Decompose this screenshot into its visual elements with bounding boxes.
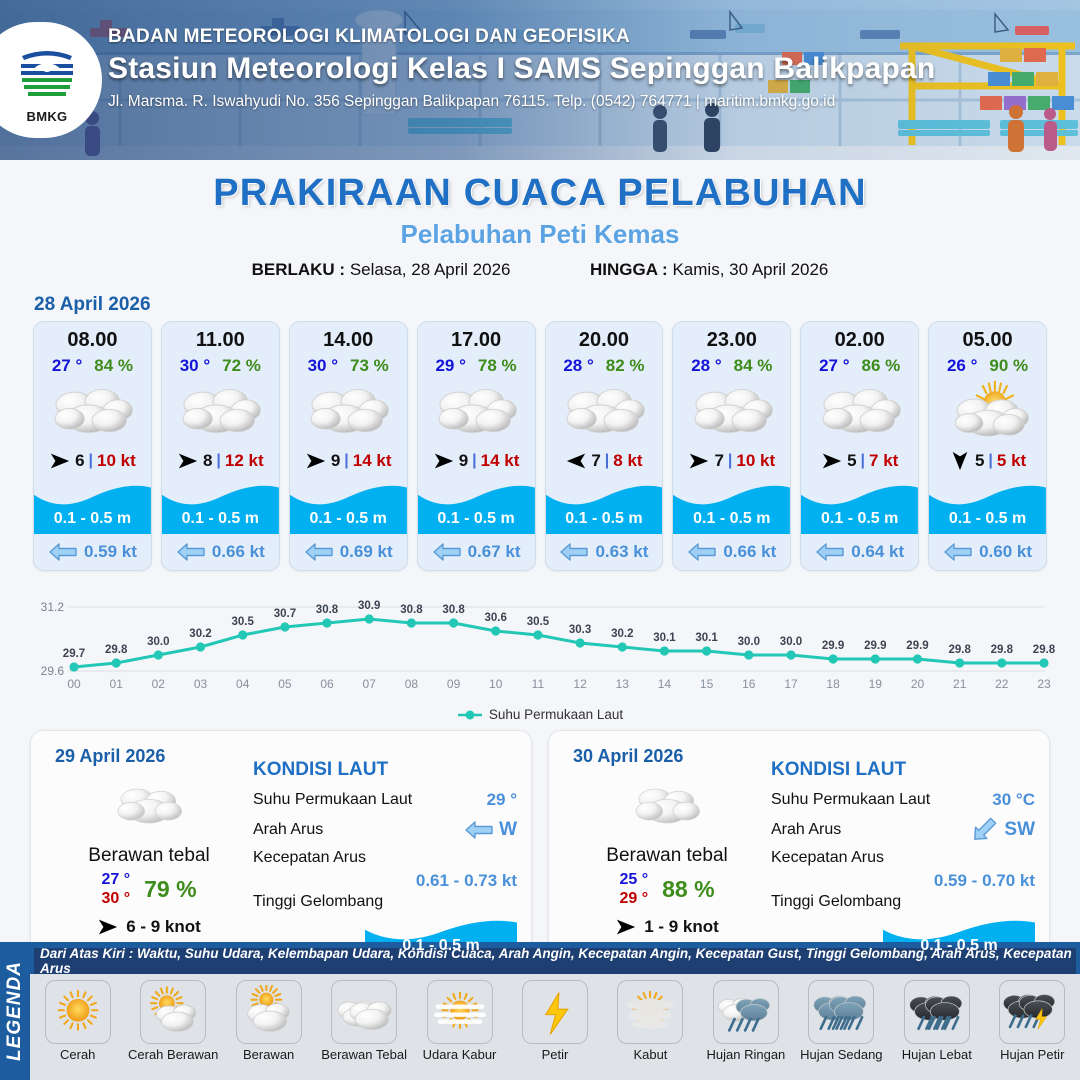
svg-text:29.7: 29.7 (63, 648, 85, 660)
legend-icon-box (427, 980, 493, 1044)
legend-item-label: Berawan (223, 1048, 315, 1062)
legend-item-label: Hujan Ringan (700, 1048, 792, 1062)
svg-text:07: 07 (363, 677, 377, 691)
legend-item: Cerah Berawan (127, 980, 219, 1062)
card-wind-row: 7 | 8 kt (546, 444, 663, 478)
legend-item-label: Udara Kabur (414, 1048, 506, 1062)
card-wind-direction (49, 450, 71, 472)
daily-humidity: 88 % (662, 876, 714, 903)
legend-item: Berawan (223, 980, 315, 1062)
svg-text:20: 20 (911, 677, 925, 691)
card-wind-direction (565, 450, 587, 472)
daily-temp-min: 25 ° (619, 871, 648, 889)
sst-chart-svg: 31.229.629.70029.80130.00230.20330.50430… (22, 585, 1058, 697)
hourly-card: 02.00 27 ° 86 % 5 | 7 kt 0 (800, 321, 919, 571)
card-wave-height: 0.1 - 0.5 m (34, 510, 151, 528)
card-wave-block: 0.1 - 0.5 m (162, 478, 279, 534)
legend-item: Cerah (32, 980, 124, 1062)
legend-icon-box (331, 980, 397, 1044)
card-temperature: 26 ° (947, 356, 977, 376)
card-gust: 12 kt (225, 451, 264, 471)
clouds-icon (335, 985, 393, 1039)
current-direction-value: W (499, 819, 517, 841)
hourly-card: 17.00 29 ° 78 % 9 | 14 kt (417, 321, 536, 571)
daily-panel: 29 April 2026 Berawan tebal 27 ° 30 ° 79… (30, 730, 532, 972)
card-humidity: 84 % (734, 356, 773, 376)
current-speed-label: Kecepatan Arus (771, 849, 884, 867)
legend-icon-box (236, 980, 302, 1044)
current-direction-arrow-icon (432, 541, 462, 563)
page-header: BMKG BADAN METEOROLOGI KLIMATOLOGI DAN G… (0, 0, 1080, 160)
legend-item: Udara Kabur (414, 980, 506, 1062)
daily-sea-block: KONDISI LAUT Suhu Permukaan Laut 30 °C A… (771, 759, 1035, 961)
svg-text:13: 13 (616, 677, 630, 691)
svg-text:30.9: 30.9 (358, 600, 380, 612)
station-address: Jl. Marsma. R. Iswahyudi No. 356 Sepingg… (108, 93, 935, 111)
card-humidity: 84 % (94, 356, 133, 376)
wind-direction-arrow-icon (565, 450, 587, 472)
sst-chart: 31.229.629.70029.80130.00230.20330.50430… (0, 585, 1080, 705)
card-wind-direction (688, 450, 710, 472)
daily-wind-row: 1 - 9 knot (567, 916, 767, 938)
station-name: Stasiun Meteorologi Kelas I SAMS Sepingg… (108, 52, 935, 86)
sst-label: Suhu Permukaan Laut (771, 791, 930, 809)
daily-condition: Berawan tebal (567, 845, 767, 867)
card-time: 11.00 (162, 322, 279, 352)
page-subtitle: Pelabuhan Peti Kemas (0, 219, 1080, 250)
cloud-icon (177, 382, 263, 440)
current-direction-arrow-icon (48, 541, 78, 563)
sea-conditions-title: KONDISI LAUT (771, 759, 1035, 781)
svg-text:30.6: 30.6 (485, 612, 507, 624)
card-temperature: 27 ° (52, 356, 82, 376)
card-current-speed: 0.66 kt (723, 542, 776, 562)
svg-text:30.1: 30.1 (653, 632, 676, 644)
card-wind-speed: 7 (591, 451, 600, 471)
current-direction-arrow-icon (966, 812, 1003, 849)
legend-item: Hujan Petir (986, 980, 1078, 1062)
daily-wave-box: 0.1 - 0.5 m (365, 913, 517, 961)
sun-icon (49, 985, 107, 1039)
svg-text:29.8: 29.8 (991, 644, 1014, 656)
wind-direction-arrow-icon (97, 916, 119, 938)
hingga-value: Kamis, 30 April 2026 (672, 260, 828, 279)
card-current-speed: 0.64 kt (851, 542, 904, 562)
daily-wind-speed: 1 - 9 knot (644, 917, 719, 937)
card-wind-direction (949, 450, 971, 472)
header-text-block: BADAN METEOROLOGI KLIMATOLOGI DAN GEOFIS… (108, 26, 935, 111)
card-separator: | (472, 452, 476, 470)
legend-item-label: Cerah Berawan (127, 1048, 219, 1062)
card-weather-icon (418, 378, 535, 444)
card-current-speed: 0.59 kt (84, 542, 137, 562)
svg-text:22: 22 (995, 677, 1009, 691)
current-direction-value-group: W (464, 819, 517, 841)
wind-direction-arrow-icon (821, 450, 843, 472)
legend-side-title-text: LEGENDA (4, 961, 26, 1061)
card-separator: | (344, 452, 348, 470)
card-wind-row: 7 | 10 kt (673, 444, 790, 478)
agency-name: BADAN METEOROLOGI KLIMATOLOGI DAN GEOFIS… (108, 26, 935, 48)
card-wave-block: 0.1 - 0.5 m (673, 478, 790, 534)
legend-icon-box (617, 980, 683, 1044)
current-direction-arrow-icon (815, 541, 845, 563)
lightning-icon (526, 985, 584, 1039)
hourly-date-label: 28 April 2026 (34, 294, 1080, 316)
card-wave-height: 0.1 - 0.5 m (801, 510, 918, 528)
svg-text:17: 17 (784, 677, 798, 691)
card-wind-direction (177, 450, 199, 472)
card-humidity: 86 % (862, 356, 901, 376)
card-wave-block: 0.1 - 0.5 m (34, 478, 151, 534)
svg-text:15: 15 (700, 677, 714, 691)
svg-text:30.2: 30.2 (189, 628, 211, 640)
legend-item: Petir (509, 980, 601, 1062)
daily-date: 29 April 2026 (55, 746, 165, 767)
light-rain-icon (717, 985, 775, 1039)
sun-cloud-icon (144, 985, 202, 1039)
svg-text:29.8: 29.8 (1033, 644, 1056, 656)
card-gust: 7 kt (869, 451, 898, 471)
card-time: 17.00 (418, 322, 535, 352)
daily-wind-row: 6 - 9 knot (49, 916, 249, 938)
current-speed-value: 0.59 - 0.70 kt (771, 871, 1035, 891)
card-separator: | (216, 452, 220, 470)
hingga-label: HINGGA : (590, 260, 668, 279)
legend-item-label: Kabut (604, 1048, 696, 1062)
card-weather-icon (34, 378, 151, 444)
overcast-icon (630, 782, 704, 830)
card-separator: | (988, 452, 992, 470)
legend-icon-box (140, 980, 206, 1044)
card-current-speed: 0.60 kt (979, 542, 1032, 562)
chart-legend-label: Suhu Permukaan Laut (489, 707, 623, 722)
card-wind-row: 5 | 7 kt (801, 444, 918, 478)
card-wave-height: 0.1 - 0.5 m (418, 510, 535, 528)
card-weather-icon (673, 378, 790, 444)
legend-item-label: Hujan Sedang (795, 1048, 887, 1062)
sea-conditions-title: KONDISI LAUT (253, 759, 517, 781)
card-wave-height: 0.1 - 0.5 m (673, 510, 790, 528)
card-humidity: 78 % (478, 356, 517, 376)
svg-text:19: 19 (869, 677, 883, 691)
svg-text:30.8: 30.8 (400, 604, 423, 616)
svg-text:00: 00 (67, 677, 81, 691)
card-current-row: 0.69 kt (290, 534, 407, 570)
heavy-rain-icon (908, 985, 966, 1039)
bmkg-logo-icon (12, 38, 82, 108)
card-weather-icon (801, 378, 918, 444)
legend-icon-box (904, 980, 970, 1044)
current-direction-arrow-icon (943, 541, 973, 563)
card-wind-row: 6 | 10 kt (34, 444, 151, 478)
daily-weather-icon (49, 775, 249, 837)
card-separator: | (89, 452, 93, 470)
svg-text:05: 05 (278, 677, 292, 691)
card-current-speed: 0.63 kt (595, 542, 648, 562)
card-humidity: 72 % (222, 356, 261, 376)
legend-icon-box (45, 980, 111, 1044)
wind-direction-arrow-icon (49, 450, 71, 472)
svg-text:30.8: 30.8 (442, 604, 465, 616)
card-temperature: 27 ° (819, 356, 849, 376)
card-wind-speed: 9 (459, 451, 468, 471)
card-separator: | (861, 452, 865, 470)
card-time: 20.00 (546, 322, 663, 352)
card-current-speed: 0.67 kt (468, 542, 521, 562)
wind-direction-arrow-icon (615, 916, 637, 938)
title-block: PRAKIRAAN CUACA PELABUHAN Pelabuhan Peti… (0, 160, 1080, 280)
legend-item-label: Hujan Lebat (891, 1048, 983, 1062)
svg-text:30.8: 30.8 (316, 604, 339, 616)
wave-height-label: Tinggi Gelombang (253, 893, 383, 911)
svg-text:03: 03 (194, 677, 208, 691)
wind-direction-arrow-icon (949, 450, 971, 472)
hourly-card: 05.00 26 ° 90 % (928, 321, 1047, 571)
current-direction-arrow-icon (304, 541, 334, 563)
card-wind-speed: 7 (714, 451, 723, 471)
daily-wave-height: 0.1 - 0.5 m (365, 937, 517, 955)
card-wave-height: 0.1 - 0.5 m (929, 510, 1046, 528)
daily-humidity: 79 % (144, 876, 196, 903)
current-direction-arrow-icon (687, 541, 717, 563)
hourly-forecast-row: 08.00 27 ° 84 % 6 | 10 kt (0, 321, 1080, 571)
legend-icon-box (999, 980, 1065, 1044)
moderate-rain-icon (812, 985, 870, 1039)
svg-text:31.2: 31.2 (41, 600, 65, 614)
legend-strip: LEGENDA Dari Atas Kiri : Waktu, Suhu Uda… (0, 942, 1080, 1080)
fog-icon (621, 985, 679, 1039)
svg-text:30.1: 30.1 (695, 632, 718, 644)
svg-text:30.0: 30.0 (780, 636, 802, 648)
legend-items-row: Cerah Cerah Berawan Berawan (30, 974, 1080, 1080)
card-wave-block: 0.1 - 0.5 m (290, 478, 407, 534)
card-temperature: 29 ° (435, 356, 465, 376)
card-current-row: 0.59 kt (34, 534, 151, 570)
svg-text:30.5: 30.5 (232, 616, 255, 628)
svg-text:30.3: 30.3 (569, 624, 591, 636)
current-direction-arrow-icon (559, 541, 589, 563)
svg-text:08: 08 (405, 677, 419, 691)
card-humidity: 73 % (350, 356, 389, 376)
svg-text:21: 21 (953, 677, 967, 691)
card-separator: | (605, 452, 609, 470)
card-wind-direction (433, 450, 455, 472)
svg-text:29.9: 29.9 (906, 640, 928, 652)
daily-forecast-row: 29 April 2026 Berawan tebal 27 ° 30 ° 79… (0, 722, 1080, 972)
current-direction-arrow-icon (464, 819, 494, 841)
card-wave-height: 0.1 - 0.5 m (162, 510, 279, 528)
card-wave-block: 0.1 - 0.5 m (801, 478, 918, 534)
sst-label: Suhu Permukaan Laut (253, 791, 412, 809)
daily-date: 30 April 2026 (573, 746, 683, 767)
wind-direction-arrow-icon (305, 450, 327, 472)
legend-item: Hujan Sedang (795, 980, 887, 1062)
daily-wind-speed: 6 - 9 knot (126, 917, 201, 937)
cloud-icon (689, 382, 775, 440)
card-weather-icon (162, 378, 279, 444)
card-wave-height: 0.1 - 0.5 m (290, 510, 407, 528)
card-wind-row: 8 | 12 kt (162, 444, 279, 478)
card-weather-icon (929, 378, 1046, 444)
svg-text:14: 14 (658, 677, 672, 691)
thunderstorm-icon (1003, 985, 1061, 1039)
svg-text:04: 04 (236, 677, 250, 691)
sun-cloud-icon (945, 380, 1031, 442)
wind-direction-arrow-icon (433, 450, 455, 472)
card-wave-block: 0.1 - 0.5 m (418, 478, 535, 534)
card-time: 14.00 (290, 322, 407, 352)
daily-left-block: Berawan tebal 25 ° 29 ° 88 % 1 - 9 knot … (567, 775, 767, 961)
svg-text:29.6: 29.6 (41, 664, 65, 678)
svg-text:23: 23 (1037, 677, 1051, 691)
svg-text:06: 06 (320, 677, 334, 691)
card-gust: 10 kt (736, 451, 775, 471)
card-temperature: 28 ° (563, 356, 593, 376)
card-wind-speed: 9 (331, 451, 340, 471)
cloud-icon (817, 382, 903, 440)
svg-text:30.2: 30.2 (611, 628, 633, 640)
svg-text:30.5: 30.5 (527, 616, 550, 628)
daily-condition: Berawan tebal (49, 845, 249, 867)
card-gust: 10 kt (97, 451, 136, 471)
card-current-speed: 0.66 kt (212, 542, 265, 562)
cloud-sun-icon (240, 985, 298, 1039)
wind-direction-arrow-icon (688, 450, 710, 472)
card-weather-icon (546, 378, 663, 444)
cloud-icon (49, 382, 135, 440)
card-humidity: 82 % (606, 356, 645, 376)
card-wind-direction (821, 450, 843, 472)
card-humidity: 90 % (989, 356, 1028, 376)
card-time: 08.00 (34, 322, 151, 352)
bmkg-logo-text: BMKG (12, 109, 82, 124)
chart-legend-marker-icon (457, 709, 483, 721)
current-speed-label: Kecepatan Arus (253, 849, 366, 867)
card-wind-speed: 5 (975, 451, 984, 471)
card-current-row: 0.66 kt (162, 534, 279, 570)
svg-text:29.8: 29.8 (105, 644, 128, 656)
svg-text:30.0: 30.0 (738, 636, 760, 648)
legend-item: Kabut (604, 980, 696, 1062)
card-time: 05.00 (929, 322, 1046, 352)
cloud-icon (561, 382, 647, 440)
sst-value: 29 ° (487, 790, 517, 810)
daily-sea-block: KONDISI LAUT Suhu Permukaan Laut 29 ° Ar… (253, 759, 517, 961)
daily-left-block: Berawan tebal 27 ° 30 ° 79 % 6 - 9 knot … (49, 775, 249, 961)
card-wind-speed: 6 (75, 451, 84, 471)
wind-direction-arrow-icon (177, 450, 199, 472)
daily-wave-height: 0.1 - 0.5 m (883, 937, 1035, 955)
overcast-icon (112, 782, 186, 830)
card-temperature: 30 ° (180, 356, 210, 376)
card-current-row: 0.66 kt (673, 534, 790, 570)
card-current-row: 0.67 kt (418, 534, 535, 570)
cloud-icon (305, 382, 391, 440)
card-time: 23.00 (673, 322, 790, 352)
berlaku-value: Selasa, 28 April 2026 (350, 260, 511, 279)
legend-item-label: Berawan Tebal (318, 1048, 410, 1062)
current-speed-value: 0.61 - 0.73 kt (253, 871, 517, 891)
legend-item: Hujan Lebat (891, 980, 983, 1062)
svg-text:30.0: 30.0 (147, 636, 169, 648)
hourly-card: 11.00 30 ° 72 % 8 | 12 kt (161, 321, 280, 571)
card-current-row: 0.63 kt (546, 534, 663, 570)
card-current-row: 0.60 kt (929, 534, 1046, 570)
svg-text:29.9: 29.9 (864, 640, 886, 652)
hourly-card: 20.00 28 ° 82 % 7 | 8 kt 0 (545, 321, 664, 571)
daily-temp-max: 30 ° (101, 890, 130, 908)
svg-text:30.7: 30.7 (274, 608, 296, 620)
legend-side-title: LEGENDA (0, 942, 30, 1080)
card-temperature: 30 ° (308, 356, 338, 376)
page-title: PRAKIRAAN CUACA PELABUHAN (0, 172, 1080, 215)
legend-item: Hujan Ringan (700, 980, 792, 1062)
svg-text:16: 16 (742, 677, 756, 691)
hourly-card: 14.00 30 ° 73 % 9 | 14 kt (289, 321, 408, 571)
svg-text:02: 02 (152, 677, 166, 691)
sst-value: 30 °C (992, 790, 1035, 810)
hourly-card: 08.00 27 ° 84 % 6 | 10 kt (33, 321, 152, 571)
card-separator: | (728, 452, 732, 470)
current-direction-arrow-icon (176, 541, 206, 563)
card-gust: 14 kt (353, 451, 392, 471)
svg-text:01: 01 (110, 677, 124, 691)
cloud-icon (433, 382, 519, 440)
svg-text:09: 09 (447, 677, 461, 691)
card-current-speed: 0.69 kt (340, 542, 393, 562)
svg-text:11: 11 (532, 677, 545, 691)
daily-temps: 27 ° 30 ° 79 % (49, 871, 249, 908)
daily-temp-max: 29 ° (619, 890, 648, 908)
svg-text:18: 18 (826, 677, 840, 691)
card-wind-row: 5 | 5 kt (929, 444, 1046, 478)
legend-item-label: Petir (509, 1048, 601, 1062)
current-direction-value: SW (1004, 819, 1035, 841)
card-wave-block: 0.1 - 0.5 m (929, 478, 1046, 534)
daily-weather-icon (567, 775, 767, 837)
haze-icon (431, 985, 489, 1039)
legend-item-label: Cerah (32, 1048, 124, 1062)
daily-temps: 25 ° 29 ° 88 % (567, 871, 767, 908)
card-temperature: 28 ° (691, 356, 721, 376)
card-gust: 14 kt (481, 451, 520, 471)
wave-height-label: Tinggi Gelombang (771, 893, 901, 911)
card-gust: 5 kt (997, 451, 1026, 471)
card-wind-speed: 5 (847, 451, 856, 471)
legend-icon-box (713, 980, 779, 1044)
card-wind-direction (305, 450, 327, 472)
daily-temp-min: 27 ° (101, 871, 130, 889)
validity-range: BERLAKU : Selasa, 28 April 2026 HINGGA :… (0, 260, 1080, 280)
card-wind-speed: 8 (203, 451, 212, 471)
daily-wave-box: 0.1 - 0.5 m (883, 913, 1035, 961)
card-wind-row: 9 | 14 kt (290, 444, 407, 478)
daily-panel: 30 April 2026 Berawan tebal 25 ° 29 ° 88… (548, 730, 1050, 972)
berlaku-label: BERLAKU : (252, 260, 346, 279)
card-wind-row: 9 | 14 kt (418, 444, 535, 478)
svg-text:10: 10 (489, 677, 503, 691)
current-direction-label: Arah Arus (253, 821, 323, 839)
svg-text:29.9: 29.9 (822, 640, 844, 652)
legend-icon-box (522, 980, 588, 1044)
card-time: 02.00 (801, 322, 918, 352)
card-wave-height: 0.1 - 0.5 m (546, 510, 663, 528)
legend-item: Berawan Tebal (318, 980, 410, 1062)
chart-legend: Suhu Permukaan Laut (0, 707, 1080, 722)
legend-icon-box (808, 980, 874, 1044)
card-gust: 8 kt (613, 451, 642, 471)
